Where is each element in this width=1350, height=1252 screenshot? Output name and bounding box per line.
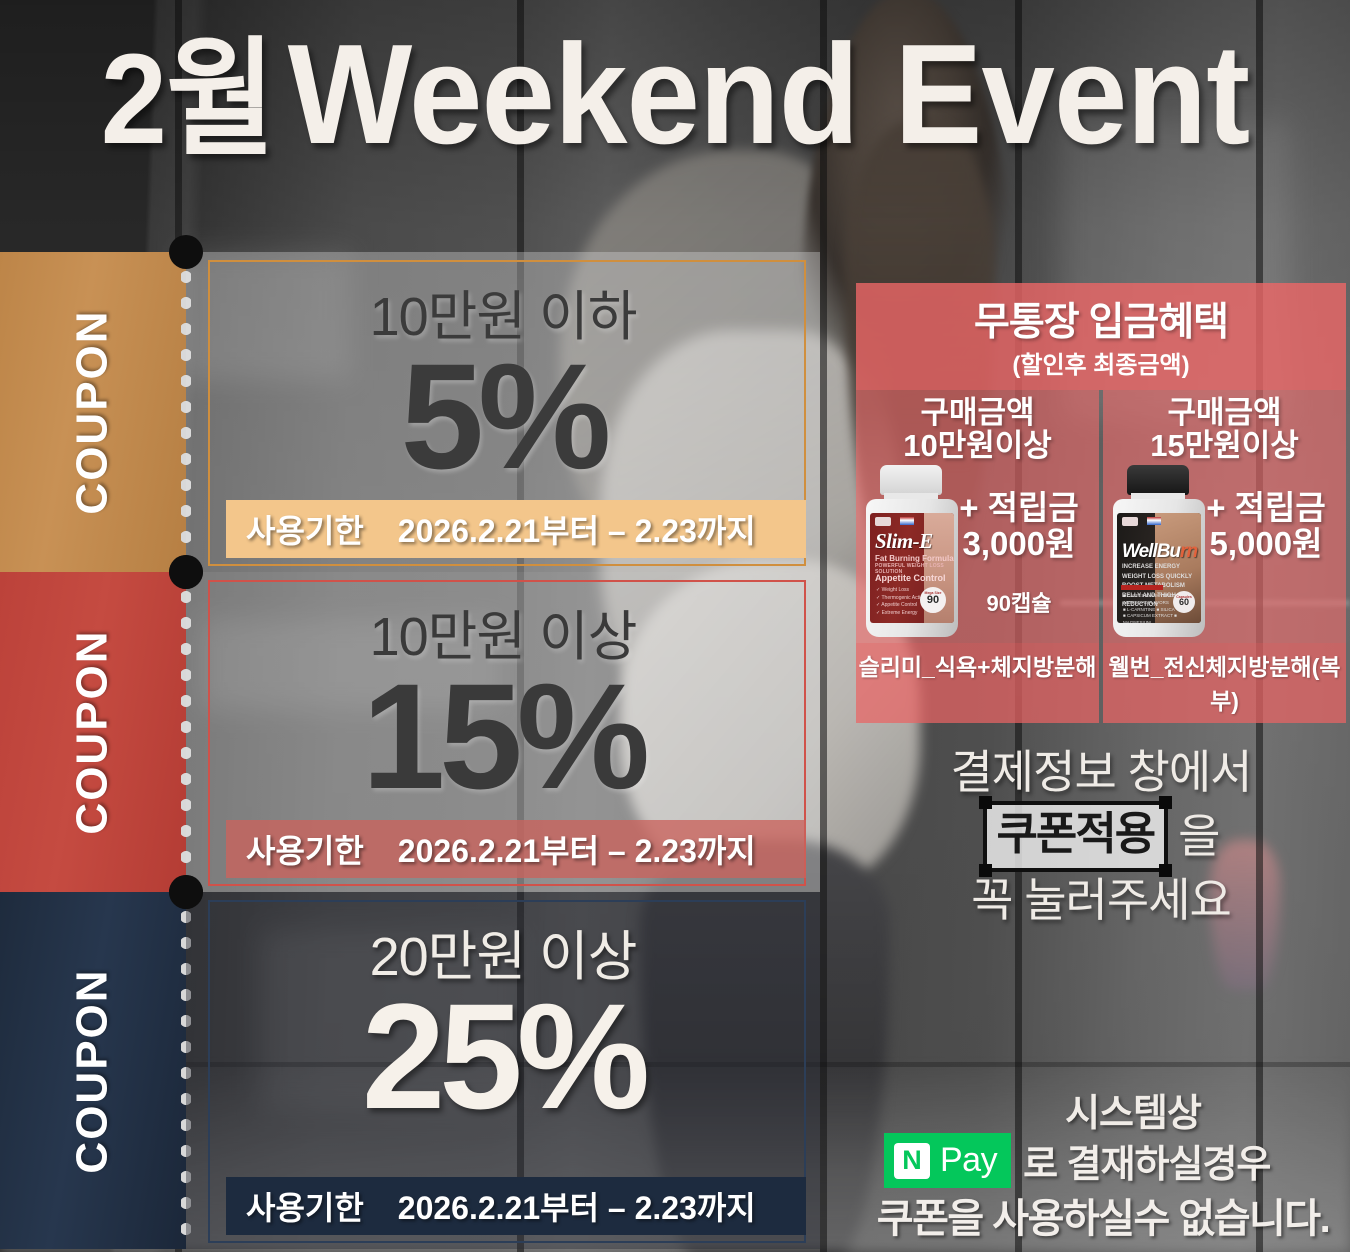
title-month: 2월	[101, 28, 275, 171]
purchase-amount-line1: 구매금액	[856, 396, 1099, 429]
npay-notice-line1: 시스템상	[856, 1082, 1350, 1137]
npay-notice-line3: 쿠폰을 사용하실수 없습니다.	[856, 1186, 1350, 1244]
instruction-line-3: 꼭 눌러주세요	[856, 874, 1346, 927]
coupon-ticket-15[interactable]: COUPON 10만원 이상 15% 사용기한 2026.2.21부터 – 2.…	[0, 572, 820, 892]
coupon-body: 20만원 이상 25% 사용기한 2026.2.21부터 – 2.23까지	[186, 892, 820, 1249]
coupon-period-value: 2026.2.21부터 – 2.23까지	[398, 1183, 756, 1229]
coupon-period-bar: 사용기한 2026.2.21부터 – 2.23까지	[226, 1177, 806, 1235]
deposit-benefit-title: 무통장 입금혜택	[856, 291, 1346, 347]
coupon-ticket-5[interactable]: COUPON 10만원 이하 5% 사용기한 2026.2.21부터 – 2.2…	[0, 252, 820, 572]
npay-notice: 시스템상 N Pay 로 결재하실경우 쿠폰을 사용하실수 없습니다.	[856, 1082, 1350, 1244]
bottle-tagline-1: Fat Burning Formula	[875, 554, 954, 563]
coupon-period-value: 2026.2.21부터 – 2.23까지	[398, 826, 756, 872]
instruction-line-1: 결제정보 창에서	[856, 746, 1346, 799]
npay-notice-line2: N Pay 로 결재하실경우	[856, 1133, 1350, 1188]
coupon-stub: COUPON	[0, 252, 186, 572]
seal-top-text: Mega Size	[922, 591, 944, 595]
coupon-period-value: 2026.2.21부터 – 2.23까지	[398, 506, 756, 552]
reward-points-line2: 3,000원	[943, 526, 1095, 562]
coupon-body: 10만원 이상 15% 사용기한 2026.2.21부터 – 2.23까지	[186, 572, 820, 892]
coupon-instruction: 결제정보 창에서 쿠폰적용 을 꼭 눌러주세요	[856, 746, 1346, 927]
selection-handle	[979, 864, 992, 877]
product-caption-row: 슬리미_식욕+체지방분해 웰번_전신체지방분해(복부)	[856, 643, 1346, 723]
product-caption-slim-e: 슬리미_식욕+체지방분해	[856, 643, 1099, 723]
coupon-stub-label: COUPON	[68, 968, 118, 1173]
npay-badge: N Pay	[884, 1133, 1011, 1188]
coupon-period-bar: 사용기한 2026.2.21부터 – 2.23까지	[226, 500, 806, 558]
reward-points: + 적립금 3,000원	[943, 490, 1095, 563]
coupon-apply-label: 쿠폰적용	[997, 808, 1155, 859]
reward-points-line2: 5,000원	[1190, 526, 1342, 562]
product-card-list: 구매금액 10만원이상 Slim-E Fat Burning Formula P…	[856, 390, 1346, 643]
selection-handle	[1159, 864, 1172, 877]
ticket-notch	[169, 235, 203, 269]
coupon-period-label: 사용기한	[246, 1183, 364, 1229]
ticket-notch	[169, 875, 203, 909]
coupon-list: COUPON 10만원 이하 5% 사용기한 2026.2.21부터 – 2.2…	[0, 252, 820, 1249]
capsule-count: 90캡슐	[955, 586, 1083, 618]
bottle-label: WellBurn INCREASE ENERGY WEIGHT LOSS QUI…	[1117, 513, 1201, 623]
purchase-amount: 구매금액 10만원이상	[856, 390, 1099, 463]
npay-pay-label: Pay	[940, 1141, 997, 1180]
coupon-percent: 25%	[362, 987, 644, 1125]
bottle-bullets: ✓ Weight Loss ✓ Thermogenic Action ✓ App…	[876, 587, 926, 617]
coupon-body: 10만원 이하 5% 사용기한 2026.2.21부터 – 2.23까지	[186, 252, 820, 572]
purchase-amount: 구매금액 15만원이상	[1103, 390, 1346, 463]
brand-prefix: WellBu	[1122, 541, 1180, 562]
bottle-label: Slim-E Fat Burning Formula POWERFUL WEIG…	[870, 513, 954, 623]
coupon-period-label: 사용기한	[246, 826, 364, 872]
usa-flag-icon	[1147, 517, 1161, 525]
bottle-brand-mark	[1122, 517, 1138, 526]
coupon-stub-label: COUPON	[68, 629, 118, 834]
instruction-line-2: 쿠폰적용 을	[856, 801, 1346, 871]
purchase-amount-line2: 15만원이상	[1103, 429, 1346, 462]
reward-points-line1: + 적립금	[1190, 490, 1342, 526]
bottle-tagline-3: Appetite Control	[875, 573, 946, 583]
usa-flag-icon	[900, 517, 914, 525]
coupon-period-label: 사용기한	[246, 506, 364, 552]
selection-handle	[1159, 796, 1172, 809]
product-caption-wellburn: 웰번_전신체지방분해(복부)	[1103, 643, 1346, 723]
ticket-notch	[169, 555, 203, 589]
npay-n-icon: N	[894, 1143, 930, 1179]
npay-notice-text: 로 결재하실경우	[1023, 1133, 1270, 1188]
bottle-count-seal: Mega Size 90	[920, 587, 946, 613]
coupon-apply-button[interactable]: 쿠폰적용	[983, 801, 1169, 871]
coupon-stub: COUPON	[0, 572, 186, 892]
bottle-brand-name: WellBurn	[1122, 541, 1197, 563]
bottle-brand-mark	[875, 517, 891, 526]
seal-count: 90	[927, 594, 939, 606]
deposit-benefit-section: 무통장 입금혜택 (할인후 최종금액) 구매금액 10만원이상	[856, 283, 1346, 723]
seal-top-text: Capsules	[1175, 595, 1193, 599]
bottle-cap	[880, 465, 942, 495]
reward-points: + 적립금 5,000원	[1190, 490, 1342, 563]
deposit-benefit-subtitle: (할인후 최종금액)	[856, 345, 1346, 380]
selection-handle	[979, 796, 992, 809]
deposit-benefit-header: 무통장 입금혜택 (할인후 최종금액)	[856, 283, 1346, 390]
coupon-period-bar: 사용기한 2026.2.21부터 – 2.23까지	[226, 820, 806, 878]
bottle-count-seal: Capsules 60	[1173, 591, 1195, 613]
product-card-slim-e[interactable]: 구매금액 10만원이상 Slim-E Fat Burning Formula P…	[856, 390, 1099, 643]
right-panel: 무통장 입금혜택 (할인후 최종금액) 구매금액 10만원이상	[856, 0, 1350, 1252]
purchase-amount-line1: 구매금액	[1103, 396, 1346, 429]
coupon-percent: 15%	[362, 667, 644, 805]
reward-points-line1: + 적립금	[943, 490, 1095, 526]
bottle-cap	[1127, 465, 1189, 495]
purchase-amount-line2: 10만원이상	[856, 429, 1099, 462]
coupon-percent: 5%	[401, 347, 606, 485]
coupon-stub: COUPON	[0, 892, 186, 1249]
bottle-brand-name: Slim-E	[875, 529, 933, 554]
bottle-label-accent	[1121, 585, 1163, 590]
coupon-stub-label: COUPON	[68, 309, 118, 514]
product-card-wellburn[interactable]: 구매금액 15만원이상 WellBurn INCREASE ENERGY WEI…	[1103, 390, 1346, 643]
coupon-ticket-25[interactable]: COUPON 20만원 이상 25% 사용기한 2026.2.21부터 – 2.…	[0, 892, 820, 1249]
instruction-suffix: 을	[1178, 810, 1219, 863]
